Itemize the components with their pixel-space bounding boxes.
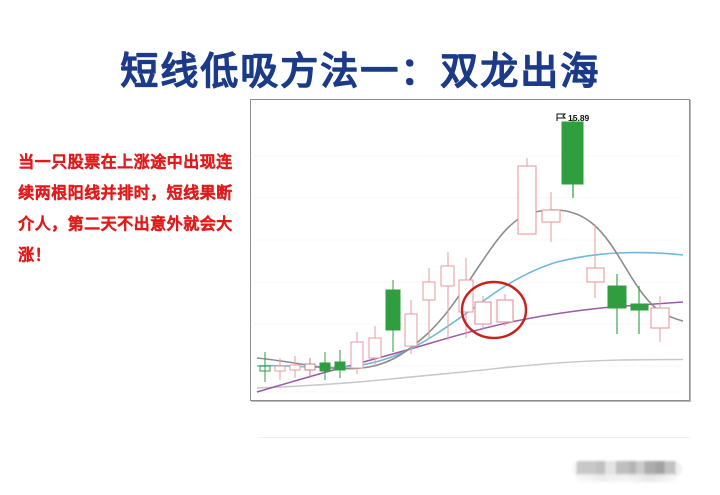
watermark-blurred-secondary	[576, 474, 676, 482]
price-label: 15.89	[568, 113, 589, 123]
candlestick-chart[interactable]	[251, 100, 687, 398]
flag-icon	[556, 113, 568, 122]
chart-background	[251, 100, 687, 398]
stock-chart-panel[interactable]	[250, 99, 690, 401]
section-divider	[258, 437, 690, 438]
candle-item	[518, 158, 536, 234]
annotation-note-text: 当一只股票在上涨途中出现连续两根阳线并排时，短线果断介人，第二天不出意外就会大涨…	[18, 146, 246, 270]
price-flag-marker: 15.89	[556, 113, 589, 123]
slide-canvas: 短线低吸方法一：双龙出海 当一只股票在上涨途中出现连续两根阳线并排时，短线果断介…	[0, 0, 720, 495]
page-title: 短线低吸方法一：双龙出海	[0, 40, 720, 95]
